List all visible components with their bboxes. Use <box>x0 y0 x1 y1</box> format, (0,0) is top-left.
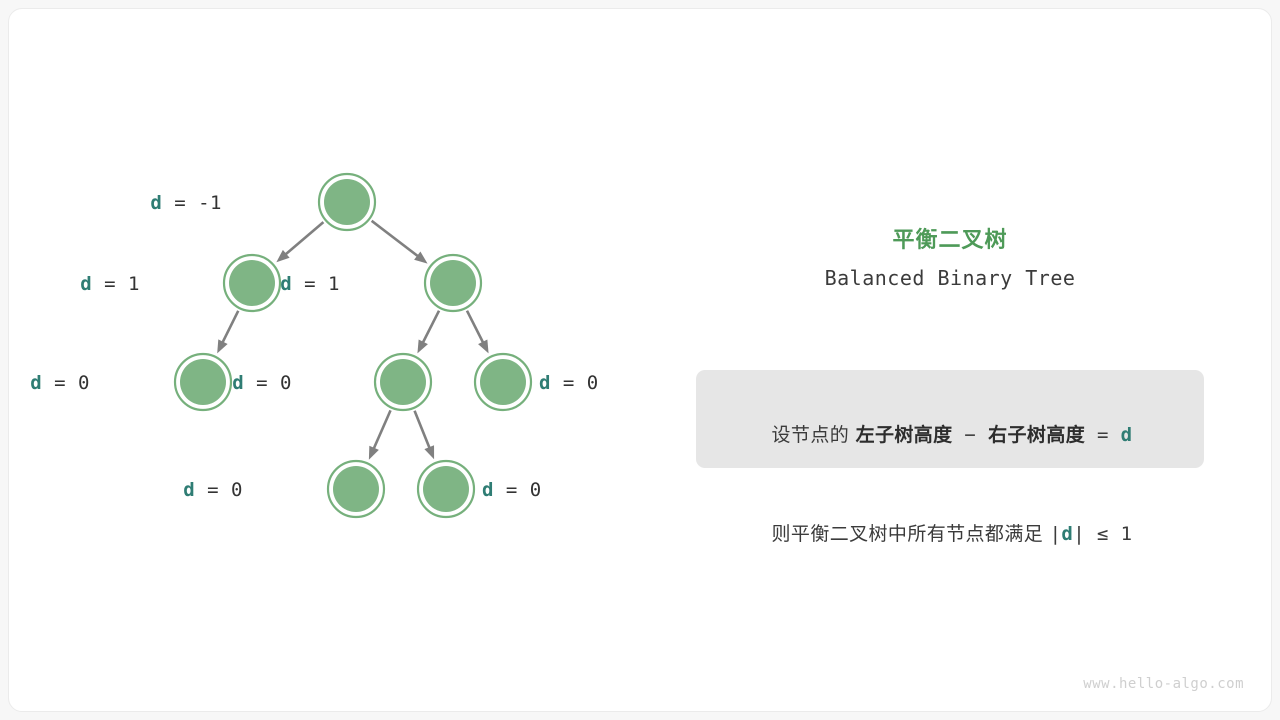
info-panel: 平衡二叉树 Balanced Binary Tree 设节点的 左子树高度 − … <box>696 222 1204 290</box>
tree-node-fill <box>423 466 469 512</box>
condition-relation: ≤ 1 <box>1085 523 1132 545</box>
definition-minus: − <box>953 424 989 446</box>
definition-line-2: 则平衡二叉树中所有节点都满足 |d| ≤ 1 <box>696 485 1204 584</box>
balance-variable: d <box>232 372 244 394</box>
tree-edge <box>415 411 431 450</box>
balance-variable: d <box>482 479 494 501</box>
balance-value: = -1 <box>162 192 222 214</box>
panel-subtitle: Balanced Binary Tree <box>696 266 1204 290</box>
abs-bar-open: | <box>1050 523 1062 545</box>
tree-node-fill <box>324 179 370 225</box>
tree-edge <box>222 311 239 345</box>
tree-node <box>418 461 474 517</box>
tree-node-fill <box>333 466 379 512</box>
balance-value: = 0 <box>494 479 542 501</box>
tree-node-fill <box>480 359 526 405</box>
node-balance-label: d = 0 <box>0 479 243 501</box>
definition-box: 设节点的 左子树高度 − 右子树高度 = d 则平衡二叉树中所有节点都满足 |d… <box>696 370 1204 468</box>
balance-value: = 0 <box>195 479 243 501</box>
tree-node <box>319 174 375 230</box>
node-balance-label: d = 0 <box>539 372 599 394</box>
node-balance-label: d = 1 <box>0 273 340 295</box>
tree-edge-arrowhead <box>417 339 428 353</box>
definition-right-subtree-height: 右子树高度 <box>988 424 1085 446</box>
balance-value: = 0 <box>551 372 599 394</box>
tree-edge <box>284 222 323 256</box>
definition-var-d: d <box>1121 424 1133 446</box>
tree-node-fill <box>430 260 476 306</box>
node-balance-label: d = -1 <box>0 192 222 214</box>
panel-title: 平衡二叉树 <box>696 222 1204 254</box>
condition-prefix: 则平衡二叉树中所有节点都满足 <box>772 523 1050 545</box>
binary-tree-graphic <box>0 0 1280 720</box>
watermark: www.hello-algo.com <box>1083 676 1244 692</box>
balance-variable: d <box>183 479 195 501</box>
tree-node <box>328 461 384 517</box>
tree-node <box>375 354 431 410</box>
balance-variable: d <box>539 372 551 394</box>
tree-edge <box>373 410 391 450</box>
balance-value: = 0 <box>244 372 292 394</box>
definition-prefix: 设节点的 <box>772 424 856 446</box>
tree-edge-arrowhead <box>217 339 227 353</box>
balance-value: = 1 <box>292 273 340 295</box>
tree-node-fill <box>380 359 426 405</box>
balance-variable: d <box>150 192 162 214</box>
definition-line-1: 设节点的 左子树高度 − 右子树高度 = d <box>696 386 1204 485</box>
condition-var-d: d <box>1061 523 1073 545</box>
tree-node <box>475 354 531 410</box>
tree-nodes <box>175 174 531 517</box>
node-balance-label: d = 0 <box>482 479 542 501</box>
tree-edge-arrowhead <box>424 445 434 459</box>
diagram-page: d = -1d = 1d = 1d = 0d = 0d = 0d = 0d = … <box>0 0 1280 720</box>
tree-edge-arrowhead <box>369 446 379 460</box>
tree-edge <box>372 221 420 258</box>
abs-bar-close: | <box>1073 523 1085 545</box>
balance-variable: d <box>280 273 292 295</box>
tree-edge-arrowhead <box>478 339 489 353</box>
node-balance-label: d = 0 <box>0 372 292 394</box>
tree-edge <box>467 311 484 345</box>
tree-edge <box>422 311 439 345</box>
tree-node <box>425 255 481 311</box>
definition-left-subtree-height: 左子树高度 <box>856 424 953 446</box>
definition-equals: = <box>1085 424 1121 446</box>
